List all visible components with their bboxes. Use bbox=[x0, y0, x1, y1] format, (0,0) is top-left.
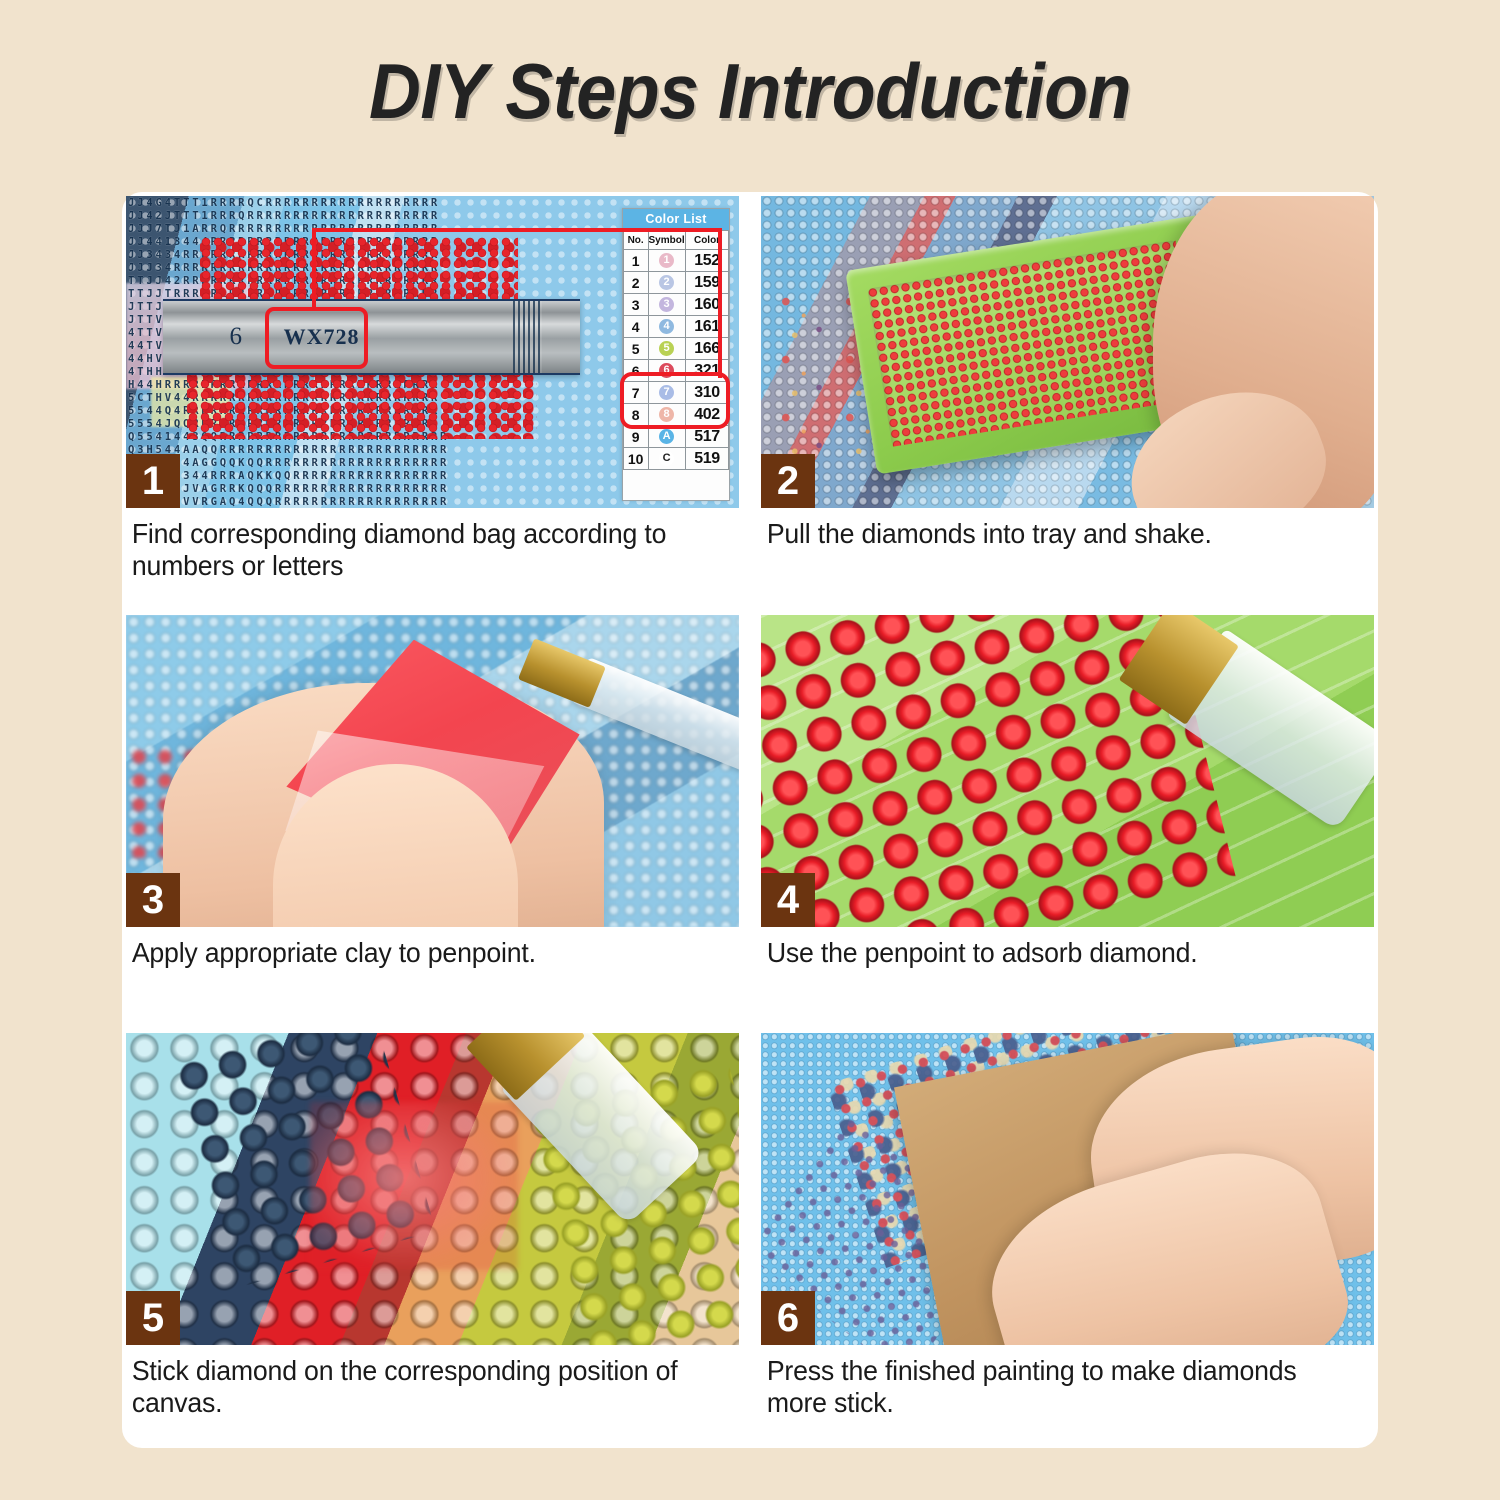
step-cell-2: 2 Pull the diamonds into tray and shake. bbox=[761, 196, 1374, 607]
step-cell-4: 4 Use the penpoint to adsorb diamond. bbox=[761, 615, 1374, 1026]
symbol-swatch: 5 bbox=[659, 341, 674, 356]
cell-symbol: 2 bbox=[648, 272, 685, 294]
step-cell-6: e Book 6 Press the finished painting to … bbox=[761, 1033, 1374, 1444]
color-list-table: Color List No. Symbol Color 111522215933… bbox=[622, 208, 731, 500]
symbol-swatch: A bbox=[659, 429, 674, 444]
tray-well bbox=[867, 239, 1200, 446]
cell-color: 166 bbox=[685, 338, 729, 360]
step-cell-3: 3 Apply appropriate clay to penpoint. bbox=[126, 615, 739, 1026]
step-1-image: JJ4G4TTT1RRRRQCRRRRRRRRRRRRRRRRRRR JJ42J… bbox=[126, 196, 739, 508]
step-caption-4: Use the penpoint to adsorb diamond. bbox=[761, 927, 1356, 969]
step-badge-4: 4 bbox=[761, 873, 815, 927]
step-badge-5: 5 bbox=[126, 1291, 180, 1345]
step-badge-1: 1 bbox=[126, 454, 180, 508]
step-5-image: 5 bbox=[126, 1033, 739, 1345]
symbol-swatch: C bbox=[659, 451, 674, 466]
cell-symbol: 1 bbox=[648, 250, 685, 272]
callout-box-color-rows bbox=[620, 372, 730, 428]
cell-no: 4 bbox=[623, 316, 648, 338]
col-header-symbol: Symbol bbox=[648, 231, 685, 250]
color-list-row: 33160 bbox=[623, 294, 729, 316]
step-3-image: 3 bbox=[126, 615, 739, 927]
color-list-row: 44161 bbox=[623, 316, 729, 338]
loose-diamonds-bottom bbox=[187, 368, 536, 440]
step-badge-3: 3 bbox=[126, 873, 180, 927]
symbol-swatch: 1 bbox=[659, 253, 674, 268]
cell-symbol: 3 bbox=[648, 294, 685, 316]
color-list-row: 22159 bbox=[623, 272, 729, 294]
col-header-color: Color bbox=[685, 231, 729, 250]
symbol-swatch: 3 bbox=[659, 297, 674, 312]
callout-line-to-bag bbox=[312, 228, 316, 309]
cell-no: 3 bbox=[623, 294, 648, 316]
cell-no: 1 bbox=[623, 250, 648, 272]
step-2-image: 2 bbox=[761, 196, 1374, 508]
step-caption-2: Pull the diamonds into tray and shake. bbox=[761, 508, 1356, 550]
step-caption-5: Stick diamond on the corresponding posit… bbox=[126, 1345, 721, 1419]
cell-color: 152 bbox=[685, 250, 729, 272]
cell-no: 10 bbox=[623, 448, 648, 470]
step-4-image: 4 bbox=[761, 615, 1374, 927]
cell-color: 161 bbox=[685, 316, 729, 338]
step-badge-6: 6 bbox=[761, 1291, 815, 1345]
callout-line-horizontal bbox=[312, 228, 718, 232]
step-caption-6: Press the finished painting to make diam… bbox=[761, 1345, 1356, 1419]
poster-root: DIY Steps Introduction JJ4G4TTT1RRRRQCRR… bbox=[0, 0, 1500, 1500]
step-caption-3: Apply appropriate clay to penpoint. bbox=[126, 927, 721, 969]
callout-box-bag-number bbox=[265, 307, 368, 370]
cell-no: 5 bbox=[623, 338, 648, 360]
cell-symbol: A bbox=[648, 426, 685, 448]
cell-symbol: C bbox=[648, 448, 685, 470]
step-6-image: e Book 6 bbox=[761, 1033, 1374, 1345]
color-list-row: 11152 bbox=[623, 250, 729, 272]
cell-color: 517 bbox=[685, 426, 729, 448]
step-caption-1: Find corresponding diamond bag according… bbox=[126, 508, 721, 582]
cell-symbol: 5 bbox=[648, 338, 685, 360]
cell-color: 160 bbox=[685, 294, 729, 316]
page-title: DIY Steps Introduction bbox=[60, 52, 1440, 130]
bag-barcode bbox=[513, 301, 542, 373]
color-list-grid: No. Symbol Color 11152221593316044161551… bbox=[623, 230, 730, 470]
pen-tip bbox=[518, 638, 606, 708]
symbol-swatch: 4 bbox=[659, 319, 674, 334]
steps-card: JJ4G4TTT1RRRRQCRRRRRRRRRRRRRRRRRRR JJ42J… bbox=[122, 192, 1378, 1448]
bag-number: 6 bbox=[229, 323, 242, 351]
cell-no: 9 bbox=[623, 426, 648, 448]
color-list-row: 9A517 bbox=[623, 426, 729, 448]
step-badge-2: 2 bbox=[761, 454, 815, 508]
cell-color: 519 bbox=[685, 448, 729, 470]
tray-diamonds bbox=[867, 239, 1200, 446]
color-list-row: 10C519 bbox=[623, 448, 729, 470]
cell-symbol: 4 bbox=[648, 316, 685, 338]
cell-color: 159 bbox=[685, 272, 729, 294]
cell-no: 2 bbox=[623, 272, 648, 294]
step-cell-5: 5 Stick diamond on the corresponding pos… bbox=[126, 1033, 739, 1444]
col-header-no: No. bbox=[623, 231, 648, 250]
callout-line-to-table bbox=[718, 228, 722, 378]
symbol-swatch: 2 bbox=[659, 275, 674, 290]
color-list-row: 55166 bbox=[623, 338, 729, 360]
color-list-header-row: No. Symbol Color bbox=[623, 231, 729, 250]
diamond-bag: 6 WX728 bbox=[163, 299, 580, 375]
step-cell-1: JJ4G4TTT1RRRRQCRRRRRRRRRRRRRRRRRRR JJ42J… bbox=[126, 196, 739, 607]
color-list-body: 1115222159331604416155166663217731088402… bbox=[623, 250, 729, 470]
